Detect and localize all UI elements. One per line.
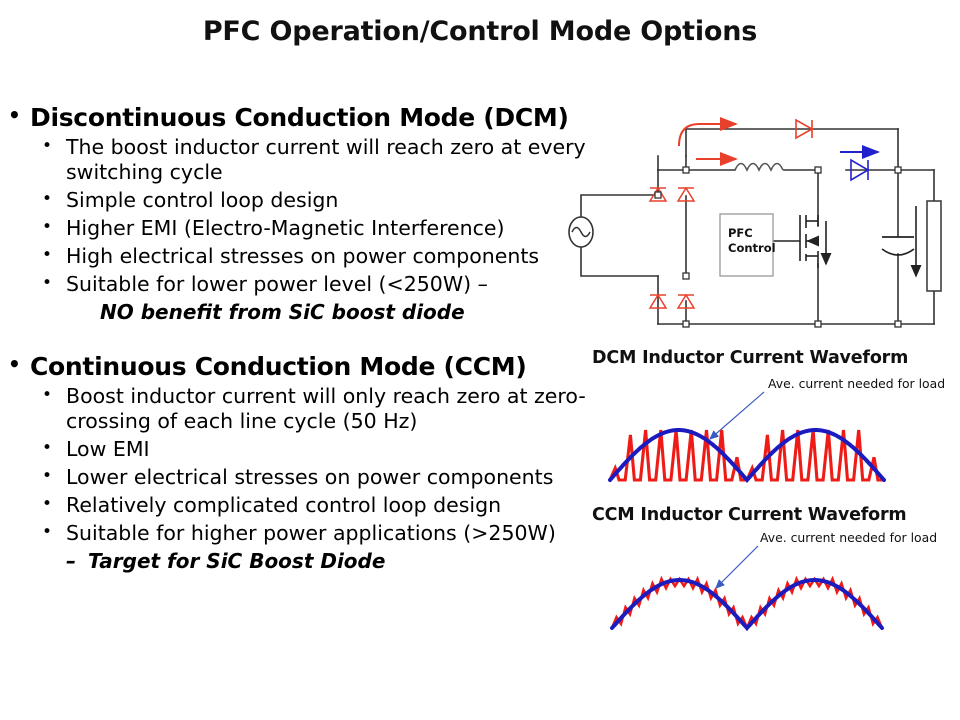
dcm-waveform-chart: Ave. current needed for load: [592, 372, 960, 494]
bullet-content-column: • Discontinuous Conduction Mode (DCM) • …: [8, 104, 608, 576]
list-item: • High electrical stresses on power comp…: [8, 244, 608, 269]
list-item: • Suitable for higher power applications…: [8, 521, 608, 546]
bullet-glyph: •: [42, 135, 66, 158]
list-item-label: Boost inductor current will only reach z…: [66, 384, 608, 434]
sub-list-item-target: – Target for SiC Boost Diode: [8, 549, 608, 573]
pfc-circuit-diagram: PFC Control: [568, 96, 960, 348]
ccm-average-current-trace: [612, 580, 882, 628]
bullet-glyph: •: [42, 188, 66, 211]
bullet-glyph: •: [42, 493, 66, 516]
ccm-waveform-heading: CCM Inductor Current Waveform: [592, 505, 906, 525]
section-heading-dcm: • Discontinuous Conduction Mode (DCM): [8, 104, 608, 131]
slide-canvas: PFC Operation/Control Mode Options • Dis…: [0, 0, 960, 720]
dcm-waveform-heading: DCM Inductor Current Waveform: [592, 348, 908, 368]
list-item-label: Higher EMI (Electro-Magnetic Interferenc…: [66, 216, 608, 241]
list-item: • Simple control loop design: [8, 188, 608, 213]
list-item: • Boost inductor current will only reach…: [8, 384, 608, 434]
ccm-annotation-label: Ave. current needed for load: [760, 530, 937, 545]
list-item-label: The boost inductor current will reach ze…: [66, 135, 608, 185]
list-item: • The boost inductor current will reach …: [8, 135, 608, 185]
ac-source: [569, 217, 593, 247]
bridge-rectifier: [650, 188, 694, 308]
bullet-glyph: •: [42, 244, 66, 267]
list-item-label: Suitable for lower power level (<250W) –: [66, 272, 608, 297]
ccm-waveform-chart: Ave. current needed for load: [592, 528, 960, 640]
bullet-glyph: •: [42, 216, 66, 239]
mosfet-switch: [773, 215, 818, 268]
list-item: • Relatively complicated control loop de…: [8, 493, 608, 518]
dcm-waveform-svg: Ave. current needed for load: [592, 372, 960, 494]
pfc-control-label-line1: PFC: [728, 226, 753, 240]
bullet-glyph: •: [42, 437, 66, 460]
bullet-glyph: •: [42, 521, 66, 544]
list-item-label: Simple control loop design: [66, 188, 608, 213]
sub-list-item-label: Target for SiC Boost Diode: [88, 549, 608, 573]
list-item-label: High electrical stresses on power compon…: [66, 244, 608, 269]
section-heading-ccm-label: Continuous Conduction Mode (CCM): [30, 353, 608, 380]
ccm-annotation-leader-line: [716, 546, 758, 588]
pfc-control-block: PFC Control: [720, 214, 776, 276]
bullet-glyph: •: [42, 465, 66, 488]
circuit-svg: PFC Control: [568, 96, 960, 348]
ccm-inductor-current-trace: [612, 579, 882, 628]
emphasis-note-dcm: NO benefit from SiC boost diode: [8, 300, 608, 324]
list-item: • Higher EMI (Electro-Magnetic Interfere…: [8, 216, 608, 241]
circuit-nodes: [655, 167, 901, 327]
red-return-path-arrow: [679, 124, 736, 146]
list-item: • Lower electrical stresses on power com…: [8, 465, 608, 490]
list-item: • Low EMI: [8, 437, 608, 462]
page-title: PFC Operation/Control Mode Options: [0, 16, 960, 47]
bullet-glyph: •: [8, 104, 30, 127]
current-arrows: [679, 124, 916, 276]
pfc-control-label-line2: Control: [728, 241, 776, 255]
section-heading-ccm: • Continuous Conduction Mode (CCM): [8, 353, 608, 380]
bullet-glyph: •: [42, 272, 66, 295]
dcm-annotation-leader-line: [710, 392, 764, 439]
load-resistor: [927, 201, 941, 291]
dcm-average-current-trace: [610, 430, 884, 480]
list-item: • Suitable for lower power level (<250W)…: [8, 272, 608, 297]
output-capacitor: [882, 237, 914, 255]
list-item-label: Suitable for higher power applications (…: [66, 521, 608, 546]
list-item-label: Relatively complicated control loop desi…: [66, 493, 608, 518]
section-heading-dcm-label: Discontinuous Conduction Mode (DCM): [30, 104, 608, 131]
bullet-glyph: •: [42, 384, 66, 407]
boost-inductor: [735, 164, 783, 171]
dcm-annotation-label: Ave. current needed for load: [768, 376, 945, 391]
section-spacer: [8, 327, 608, 353]
list-item-label: Low EMI: [66, 437, 608, 462]
dash-glyph: –: [66, 549, 88, 573]
ccm-waveform-svg: Ave. current needed for load: [592, 528, 960, 640]
bullet-glyph: •: [8, 353, 30, 376]
list-item-label: Lower electrical stresses on power compo…: [66, 465, 608, 490]
